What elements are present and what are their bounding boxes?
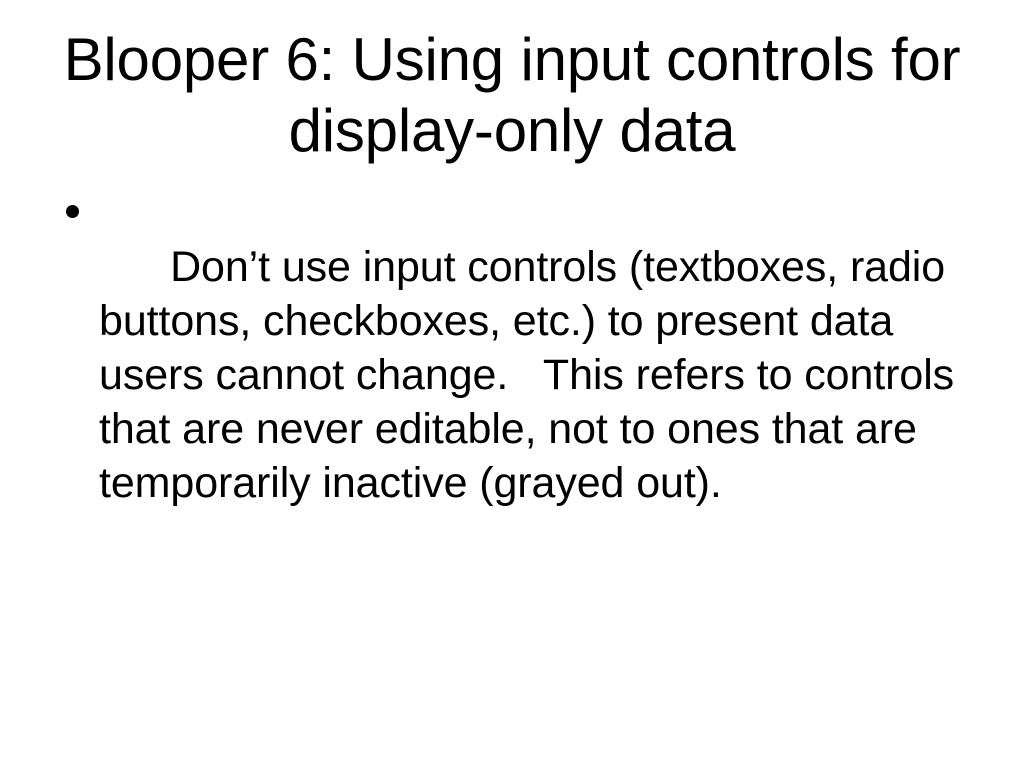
presentation-slide: Blooper 6: Using input controls for disp… (0, 0, 1024, 768)
bullet-dot-icon (66, 186, 88, 240)
list-item: Don’t use input controls (textboxes, rad… (60, 186, 960, 564)
slide-body: Don’t use input controls (textboxes, rad… (60, 186, 960, 564)
list-item-text: Don’t use input controls (textboxes, rad… (99, 243, 966, 507)
page-title: Blooper 6: Using input controls for disp… (62, 24, 962, 166)
